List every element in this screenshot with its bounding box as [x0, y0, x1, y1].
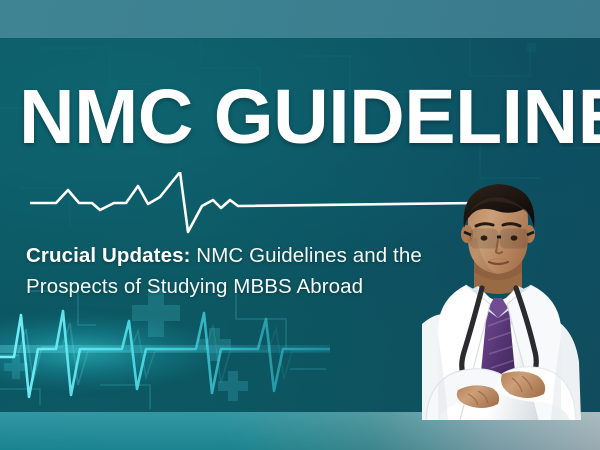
- doctor-portrait-photo: [398, 176, 600, 420]
- top-accent-band: [0, 0, 600, 38]
- subtitle-rest: NMC Guidelines and the: [191, 244, 422, 267]
- subtitle-lead: Crucial Updates:: [26, 244, 191, 267]
- nmc-guidelines-banner: NMC GUIDELINES Crucial Updates: NMC Guid…: [0, 0, 600, 450]
- banner-title: NMC GUIDELINES: [19, 77, 589, 157]
